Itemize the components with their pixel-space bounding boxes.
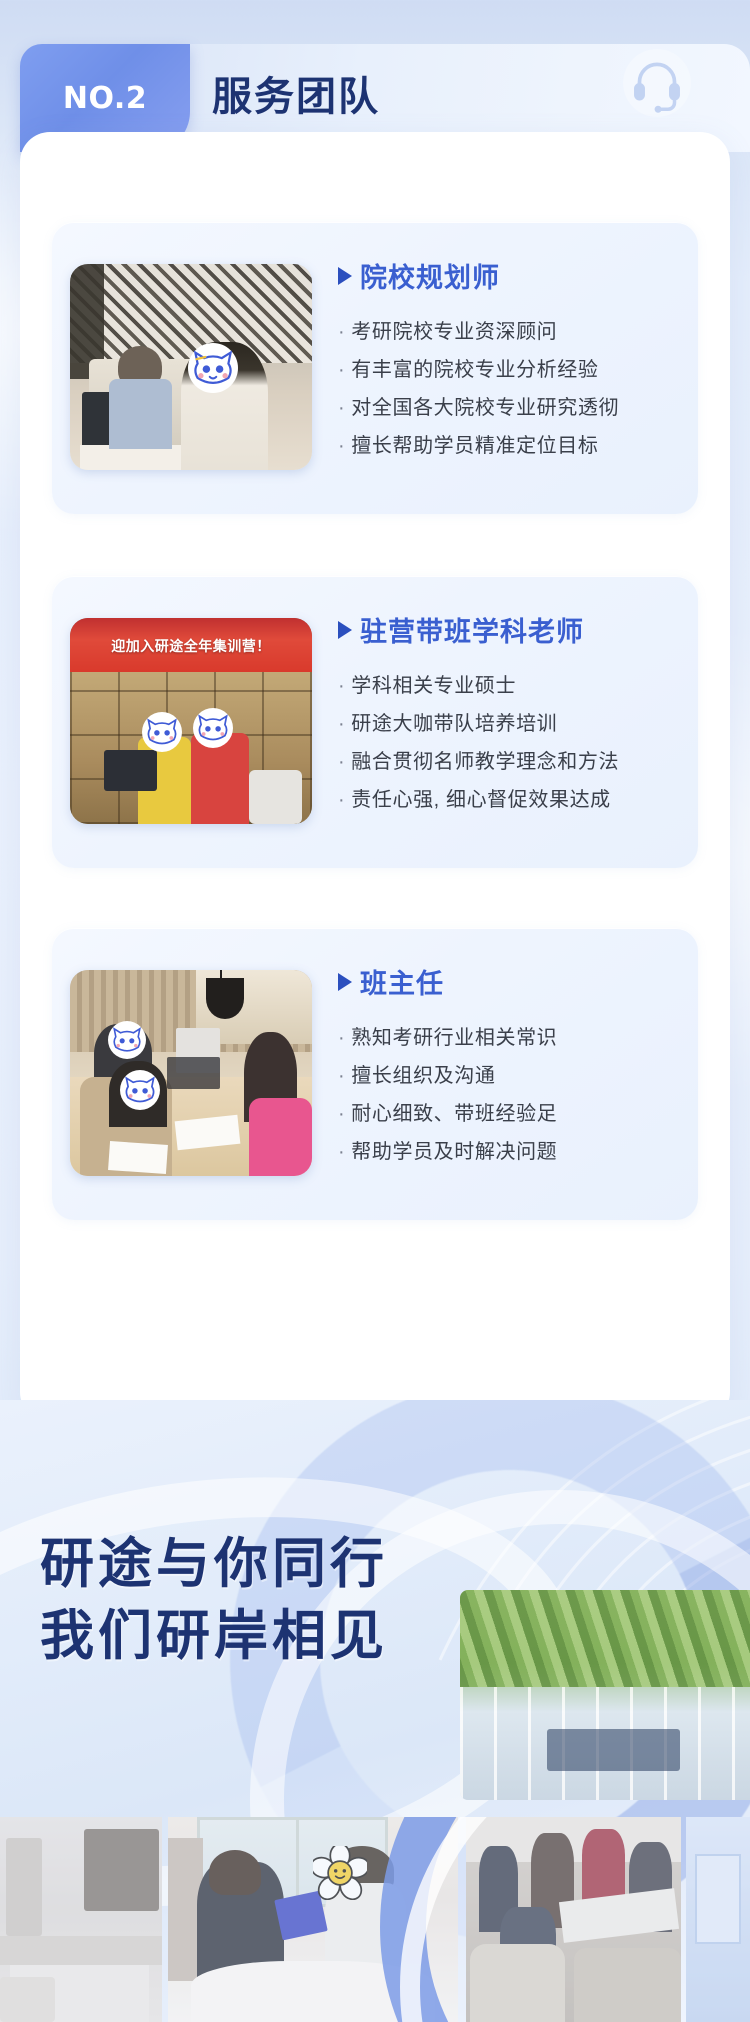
list-item: ·考研院校专业资深顾问 xyxy=(338,313,678,351)
bullet-dot-icon: · xyxy=(338,1095,345,1133)
bullet-text: 融合贯彻名师教学理念和方法 xyxy=(351,743,619,781)
bullet-dot-icon: · xyxy=(338,389,345,427)
slogan-line-2: 我们研岸相见 xyxy=(40,1600,388,1672)
triangle-bullet-icon xyxy=(338,267,352,285)
list-item: ·责任心强, 细心督促效果达成 xyxy=(338,781,678,819)
bullet-text: 帮助学员及时解决问题 xyxy=(351,1133,557,1171)
role-card-2[interactable]: 迎加入研途全年集训营！ 驻营带班学科老师 ·学科相关专业硕士 xyxy=(52,576,698,868)
role-body-1: 院校规划师 ·考研院校专业资深顾问 ·有丰富的院校专业分析经验 ·对全国各大院校… xyxy=(338,256,678,465)
bullet-text: 熟知考研行业相关常识 xyxy=(351,1019,557,1057)
list-item: ·熟知考研行业相关常识 xyxy=(338,1019,678,1057)
role-title-row-1: 院校规划师 xyxy=(338,256,678,295)
hero-slogan: 研途与你同行 我们研岸相见 xyxy=(40,1528,388,1672)
bullet-text: 考研院校专业资深顾问 xyxy=(351,313,557,351)
triangle-bullet-icon xyxy=(338,621,352,639)
bullet-dot-icon: · xyxy=(338,705,345,743)
role-photo-3 xyxy=(70,970,312,1176)
bottom-photo-strip xyxy=(0,1817,750,2022)
role-title-3: 班主任 xyxy=(360,962,444,1001)
role-title-2: 驻营带班学科老师 xyxy=(360,610,584,649)
bullet-text: 对全国各大院校专业研究透彻 xyxy=(351,389,619,427)
role-card-1[interactable]: 院校规划师 ·考研院校专业资深顾问 ·有丰富的院校专业分析经验 ·对全国各大院校… xyxy=(52,222,698,514)
role-photo-1 xyxy=(70,264,312,470)
face-sticker xyxy=(191,346,235,390)
hero-photo-collage xyxy=(460,1590,750,1800)
role-photo-2: 迎加入研途全年集训营！ xyxy=(70,618,312,824)
bullet-text: 擅长组织及沟通 xyxy=(351,1057,495,1095)
list-item: ·有丰富的院校专业分析经验 xyxy=(338,351,678,389)
section-number-label: NO.2 xyxy=(63,81,147,116)
face-sticker xyxy=(145,715,179,749)
list-item: ·擅长组织及沟通 xyxy=(338,1057,678,1095)
page-title: 服务团队 xyxy=(212,62,380,132)
list-item: ·擅长帮助学员精准定位目标 xyxy=(338,427,678,465)
bullet-text: 学科相关专业硕士 xyxy=(351,667,516,705)
bullet-dot-icon: · xyxy=(338,1057,345,1095)
role-bullets-2: ·学科相关专业硕士 ·研途大咖带队培养培训 ·融合贯彻名师教学理念和方法 ·责任… xyxy=(338,667,678,819)
list-item: ·融合贯彻名师教学理念和方法 xyxy=(338,743,678,781)
role-card-3[interactable]: 班主任 ·熟知考研行业相关常识 ·擅长组织及沟通 ·耐心细致、带班经验足 ·帮助… xyxy=(52,928,698,1220)
role-title-1: 院校规划师 xyxy=(360,256,500,295)
role-title-row-2: 驻营带班学科老师 xyxy=(338,610,678,649)
face-sticker xyxy=(196,711,230,745)
role-bullets-3: ·熟知考研行业相关常识 ·擅长组织及沟通 ·耐心细致、带班经验足 ·帮助学员及时… xyxy=(338,1019,678,1171)
face-sticker xyxy=(111,1024,143,1056)
role-bullets-1: ·考研院校专业资深顾问 ·有丰富的院校专业分析经验 ·对全国各大院校专业研究透彻… xyxy=(338,313,678,465)
bullet-text: 研途大咖带队培养培训 xyxy=(351,705,557,743)
bullet-dot-icon: · xyxy=(338,1133,345,1171)
role-body-2: 驻营带班学科老师 ·学科相关专业硕士 ·研途大咖带队培养培训 ·融合贯彻名师教学… xyxy=(338,610,678,819)
triangle-bullet-icon xyxy=(338,973,352,991)
list-item: ·研途大咖带队培养培训 xyxy=(338,705,678,743)
hero-section: 研途与你同行 我们研岸相见 xyxy=(0,1400,750,2022)
headset-icon xyxy=(622,48,692,118)
bullet-dot-icon: · xyxy=(338,313,345,351)
bullet-dot-icon: · xyxy=(338,743,345,781)
list-item: ·帮助学员及时解决问题 xyxy=(338,1133,678,1171)
slogan-line-1: 研途与你同行 xyxy=(40,1528,388,1600)
face-sticker xyxy=(123,1073,157,1107)
bullet-dot-icon: · xyxy=(338,1019,345,1057)
bullet-dot-icon: · xyxy=(338,427,345,465)
bullet-text: 擅长帮助学员精准定位目标 xyxy=(351,427,598,465)
strip-photo-1 xyxy=(0,1817,162,2022)
bullet-dot-icon: · xyxy=(338,351,345,389)
strip-curve-outline-decoration xyxy=(400,1817,750,2022)
bullet-text: 责任心强, 细心督促效果达成 xyxy=(351,781,611,819)
bullet-text: 有丰富的院校专业分析经验 xyxy=(351,351,598,389)
role-title-row-3: 班主任 xyxy=(338,962,678,1001)
page-header: NO.2 服务团队 xyxy=(0,0,750,152)
list-item: ·对全国各大院校专业研究透彻 xyxy=(338,389,678,427)
bullet-text: 耐心细致、带班经验足 xyxy=(351,1095,557,1133)
bullet-dot-icon: · xyxy=(338,781,345,819)
role-body-3: 班主任 ·熟知考研行业相关常识 ·擅长组织及沟通 ·耐心细致、带班经验足 ·帮助… xyxy=(338,962,678,1171)
list-item: ·耐心细致、带班经验足 xyxy=(338,1095,678,1133)
list-item: ·学科相关专业硕士 xyxy=(338,667,678,705)
photo-banner-text-2: 迎加入研途全年集训营！ xyxy=(70,628,312,663)
bullet-dot-icon: · xyxy=(338,667,345,705)
